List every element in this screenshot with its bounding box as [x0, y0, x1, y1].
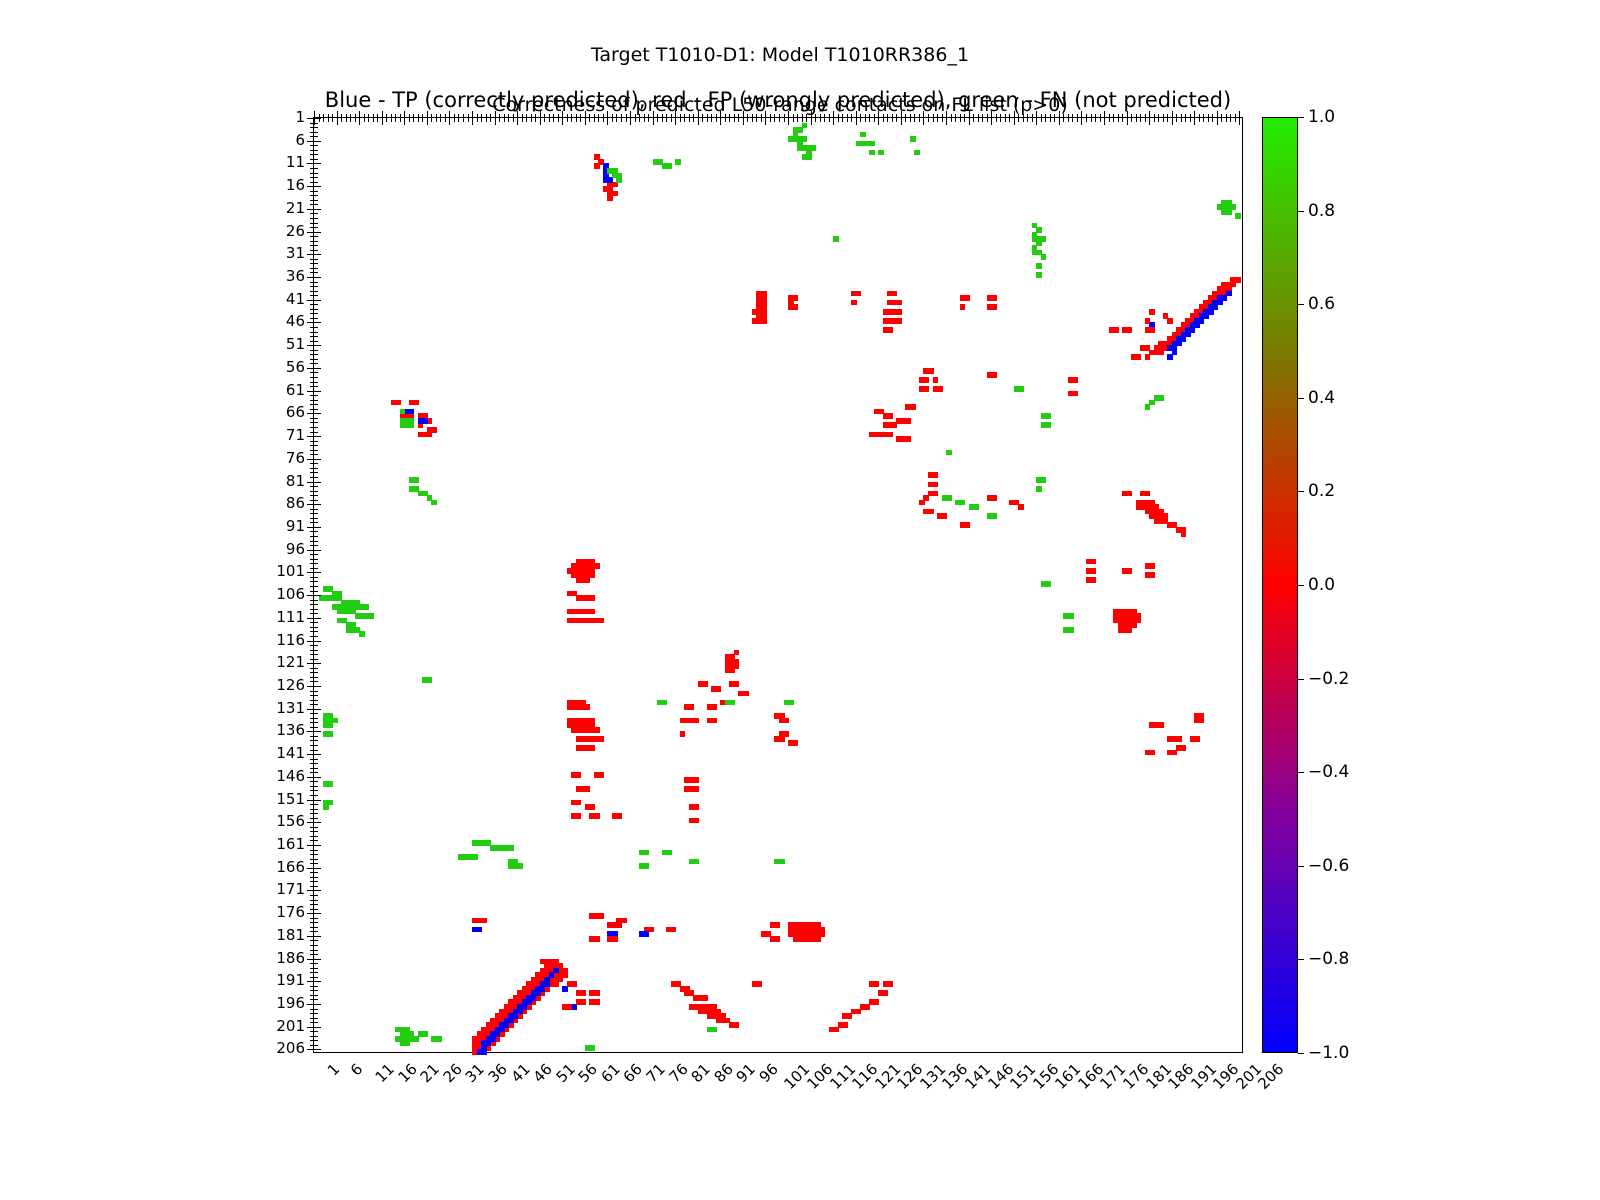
y-axis-tick-label: 66 — [286, 403, 305, 421]
contact-cell — [896, 318, 902, 324]
contact-cell — [887, 413, 893, 419]
x-tick-top — [1014, 118, 1015, 125]
y-tick-right — [310, 154, 314, 155]
x-tick — [382, 111, 383, 118]
x-tick-top — [1081, 118, 1082, 125]
contact-cell — [585, 704, 591, 710]
y-tick-right — [310, 132, 314, 133]
y-tick — [314, 1036, 318, 1037]
contact-cell — [1127, 491, 1133, 497]
x-tick-top — [793, 118, 794, 122]
y-tick — [314, 754, 321, 755]
x-tick-top — [580, 118, 581, 122]
y-tick-right — [310, 954, 314, 955]
x-tick-top — [1208, 118, 1209, 122]
x-tick-top — [1172, 118, 1173, 125]
x-tick-top — [937, 118, 938, 122]
y-tick-right — [310, 922, 314, 923]
x-tick — [607, 111, 608, 118]
y-tick — [314, 286, 318, 287]
y-tick-right — [310, 1018, 314, 1019]
y-tick — [314, 263, 318, 264]
y-tick-right — [310, 1022, 314, 1023]
x-tick-top — [774, 118, 775, 122]
y-tick — [314, 250, 318, 251]
x-tick-top — [504, 118, 505, 122]
contact-cell — [594, 999, 600, 1005]
contact-cell — [946, 495, 952, 501]
y-tick — [314, 591, 318, 592]
y-tick — [314, 332, 318, 333]
x-tick-top — [481, 118, 482, 122]
y-tick-right — [307, 890, 314, 891]
y-tick — [314, 977, 318, 978]
y-tick — [314, 204, 318, 205]
contact-cell — [644, 931, 650, 937]
contact-cell — [553, 968, 559, 974]
colorbar-tick — [1298, 772, 1304, 773]
y-tick — [314, 604, 318, 605]
contact-cell — [427, 432, 433, 438]
contact-cell — [364, 604, 370, 610]
y-tick-right — [310, 363, 314, 364]
y-tick-right — [310, 450, 314, 451]
contact-cell — [842, 1022, 848, 1028]
x-tick-top — [355, 118, 356, 122]
contact-cell — [481, 1049, 487, 1055]
y-tick-right — [310, 645, 314, 646]
contact-cell — [598, 772, 604, 778]
x-tick-top — [314, 118, 315, 125]
x-tick-top — [1068, 118, 1069, 122]
y-tick-right — [310, 613, 314, 614]
y-tick — [314, 173, 318, 174]
x-tick-top — [973, 118, 974, 122]
y-tick-right — [310, 123, 314, 124]
contact-cell — [833, 1027, 839, 1033]
x-tick-top — [463, 118, 464, 122]
x-tick-top — [1027, 118, 1028, 122]
contact-cell — [594, 990, 600, 996]
contact-cell — [580, 999, 586, 1005]
y-tick — [314, 295, 318, 296]
y-tick — [314, 895, 318, 896]
y-tick — [314, 472, 318, 473]
x-tick-top — [639, 118, 640, 122]
contact-cell — [991, 372, 997, 378]
contact-cell — [693, 786, 699, 792]
y-tick — [314, 309, 318, 310]
x-tick-top — [386, 118, 387, 122]
x-tick-top — [987, 118, 988, 122]
x-tick-top — [671, 118, 672, 122]
contact-cell — [1127, 568, 1133, 574]
contact-cell — [1091, 568, 1097, 574]
y-tick-right — [310, 622, 314, 623]
y-axis-tick-label: 71 — [286, 426, 305, 444]
y-tick-right — [310, 940, 314, 941]
x-axis-tick-labels: 1611162126313641465156616671768186919610… — [313, 1060, 1243, 1150]
x-tick — [1014, 111, 1015, 118]
y-tick-right — [310, 631, 314, 632]
y-axis-tick-label: 206 — [276, 1039, 305, 1057]
x-tick-top — [707, 118, 708, 122]
x-tick — [1239, 111, 1240, 118]
x-tick-top — [486, 118, 487, 122]
y-axis-tick-label: 121 — [276, 653, 305, 671]
y-tick-right — [310, 400, 314, 401]
y-tick — [314, 1040, 318, 1041]
contact-cell — [892, 291, 898, 297]
x-tick-top — [323, 118, 324, 122]
contact-cell — [616, 922, 622, 928]
x-tick — [1104, 111, 1105, 118]
x-tick — [359, 111, 360, 118]
x-tick-top — [1059, 118, 1060, 125]
x-tick-top — [797, 118, 798, 122]
y-tick-right — [307, 436, 314, 437]
y-tick-right — [310, 963, 314, 964]
y-tick-right — [307, 731, 314, 732]
y-tick — [314, 968, 318, 969]
y-tick-right — [310, 386, 314, 387]
y-tick — [314, 777, 321, 778]
y-tick-right — [307, 1004, 314, 1005]
x-tick-top — [436, 118, 437, 122]
y-tick-right — [310, 382, 314, 383]
contact-cell — [368, 613, 374, 619]
x-tick-top — [391, 118, 392, 122]
contact-cell — [788, 700, 794, 706]
y-tick — [314, 118, 321, 119]
x-tick-top — [1217, 118, 1218, 125]
y-tick — [314, 827, 318, 828]
x-axis-tick-label: 96 — [755, 1060, 781, 1086]
colorbar-tick — [1298, 398, 1304, 399]
contact-cell — [802, 154, 808, 160]
contact-cell — [594, 936, 600, 942]
x-tick-top — [535, 118, 536, 122]
y-tick — [314, 413, 321, 414]
contact-cell — [598, 736, 604, 742]
x-tick-top — [495, 118, 496, 125]
x-tick-top — [621, 118, 622, 122]
y-tick-right — [310, 972, 314, 973]
y-tick-right — [307, 959, 314, 960]
y-tick-right — [310, 218, 314, 219]
contact-map-axes[interactable] — [313, 117, 1243, 1053]
y-axis-tick-label: 31 — [286, 244, 305, 262]
x-tick-top — [413, 118, 414, 122]
contact-cell — [905, 436, 911, 442]
x-tick-top — [1054, 118, 1055, 122]
x-tick-top — [607, 118, 608, 125]
y-tick-right — [310, 454, 314, 455]
y-tick — [314, 740, 318, 741]
contact-cell — [933, 472, 939, 478]
x-tick-top — [644, 118, 645, 122]
y-tick — [314, 282, 318, 283]
x-tick-top — [1230, 118, 1231, 122]
y-tick-right — [310, 681, 314, 682]
y-axis-tick-label: 21 — [286, 199, 305, 217]
y-tick — [314, 1027, 321, 1028]
y-axis-tick-label: 86 — [286, 494, 305, 512]
y-tick — [314, 759, 318, 760]
x-tick-top — [666, 118, 667, 122]
y-tick — [314, 781, 318, 782]
y-tick — [314, 745, 318, 746]
contact-cell — [928, 509, 934, 515]
contact-cell — [323, 804, 329, 810]
y-axis-tick-label: 126 — [276, 676, 305, 694]
y-axis-tick-label: 6 — [295, 131, 305, 149]
x-tick-top — [377, 118, 378, 122]
y-tick — [314, 513, 318, 514]
contact-cell — [869, 141, 875, 147]
contact-cell — [594, 727, 600, 733]
y-tick-right — [310, 468, 314, 469]
y-tick — [314, 354, 318, 355]
x-tick-top — [472, 118, 473, 125]
x-tick-top — [1113, 118, 1114, 122]
y-tick — [314, 813, 318, 814]
x-tick-top — [544, 118, 545, 122]
contact-cell — [779, 736, 785, 742]
contact-cell — [1068, 627, 1074, 633]
x-tick-top — [598, 118, 599, 122]
y-tick-right — [310, 168, 314, 169]
y-tick — [314, 840, 318, 841]
contact-cell — [896, 309, 902, 315]
contact-cell — [905, 418, 911, 424]
y-tick — [314, 541, 318, 542]
contact-cell — [1145, 354, 1151, 360]
x-tick-top — [1149, 118, 1150, 125]
contact-cell — [1091, 577, 1097, 583]
colorbar-tick-label: 1.0 — [1308, 107, 1335, 127]
x-tick-top — [869, 118, 870, 122]
y-tick-right — [310, 604, 314, 605]
y-tick-right — [310, 445, 314, 446]
contact-cell — [1181, 531, 1187, 537]
y-tick — [314, 136, 318, 137]
y-tick-right — [307, 391, 314, 392]
x-tick-top — [1045, 118, 1046, 122]
y-tick-right — [310, 827, 314, 828]
y-tick — [314, 663, 321, 664]
contact-map-cells — [314, 118, 1242, 1052]
x-tick-top — [657, 118, 658, 122]
y-tick-right — [310, 127, 314, 128]
contact-cell — [422, 418, 428, 424]
contact-cell — [472, 854, 478, 860]
y-tick — [314, 359, 318, 360]
y-tick — [314, 127, 318, 128]
y-tick-right — [310, 422, 314, 423]
y-tick-right — [310, 850, 314, 851]
contact-cell — [598, 618, 604, 624]
y-tick-right — [310, 1040, 314, 1041]
y-tick — [314, 1031, 318, 1032]
x-tick-top — [675, 118, 676, 125]
y-tick — [314, 545, 318, 546]
y-tick — [314, 800, 321, 801]
y-tick-right — [310, 886, 314, 887]
x-tick-top — [729, 118, 730, 122]
x-axis-tick-label: 1 — [324, 1060, 343, 1079]
y-tick — [314, 850, 318, 851]
y-tick — [314, 1022, 318, 1023]
x-tick-top — [1167, 118, 1168, 122]
contact-cell — [1149, 309, 1155, 315]
x-tick-top — [874, 118, 875, 122]
y-tick — [314, 500, 318, 501]
x-tick-top — [1145, 118, 1146, 122]
contact-cell — [865, 1004, 871, 1010]
y-tick — [314, 554, 318, 555]
y-tick — [314, 731, 321, 732]
contact-cell — [1172, 341, 1178, 347]
y-tick — [314, 363, 318, 364]
y-tick — [314, 159, 318, 160]
y-tick-right — [310, 736, 314, 737]
x-tick — [1127, 111, 1128, 118]
y-tick — [314, 300, 321, 301]
y-tick-right — [307, 254, 314, 255]
x-tick-top — [960, 118, 961, 122]
x-tick-top — [765, 118, 766, 125]
y-axis-tick-label: 181 — [276, 926, 305, 944]
y-tick — [314, 491, 318, 492]
y-tick-right — [310, 313, 314, 314]
contact-cell — [585, 577, 591, 583]
x-tick — [1059, 111, 1060, 118]
y-tick — [314, 981, 321, 982]
y-tick-right — [310, 509, 314, 510]
x-tick-top — [431, 118, 432, 122]
y-tick-right — [310, 522, 314, 523]
y-tick — [314, 386, 318, 387]
y-tick — [314, 341, 318, 342]
y-tick — [314, 563, 318, 564]
y-tick-right — [310, 718, 314, 719]
contact-cell — [616, 177, 622, 183]
x-tick-top — [526, 118, 527, 122]
contact-cell — [589, 1045, 595, 1051]
x-tick-top — [422, 118, 423, 122]
y-tick-right — [307, 845, 314, 846]
y-tick-right — [310, 282, 314, 283]
x-tick-top — [1032, 118, 1033, 122]
y-tick-right — [310, 536, 314, 537]
x-tick-top — [468, 118, 469, 122]
x-tick-top — [1203, 118, 1204, 122]
contact-cell — [1113, 327, 1119, 333]
y-tick-right — [310, 745, 314, 746]
y-tick-right — [310, 759, 314, 760]
contact-cell — [851, 300, 857, 306]
x-tick-top — [1109, 118, 1110, 122]
y-tick-right — [310, 477, 314, 478]
x-tick-top — [1163, 118, 1164, 122]
y-tick — [314, 477, 318, 478]
y-tick-right — [310, 463, 314, 464]
contact-cell — [1172, 350, 1178, 356]
x-tick-top — [847, 118, 848, 122]
y-tick-right — [307, 641, 314, 642]
y-tick — [314, 845, 321, 846]
y-axis-tick-label: 141 — [276, 744, 305, 762]
y-tick — [314, 927, 318, 928]
contact-cell — [400, 409, 406, 415]
x-tick — [675, 111, 676, 118]
y-tick-right — [307, 322, 314, 323]
x-tick — [585, 111, 586, 118]
contact-cell — [734, 663, 740, 669]
x-tick-top — [558, 118, 559, 122]
y-tick-right — [310, 740, 314, 741]
contact-cell — [914, 150, 920, 156]
contact-cell — [1145, 318, 1151, 324]
x-tick — [833, 111, 834, 118]
y-tick — [314, 336, 318, 337]
y-tick-right — [307, 163, 314, 164]
x-tick — [427, 111, 428, 118]
y-tick-right — [310, 159, 314, 160]
x-tick-top — [1009, 118, 1010, 122]
colorbar-tick-label: −1.0 — [1308, 1043, 1349, 1063]
y-tick — [314, 954, 318, 955]
y-tick — [314, 1004, 321, 1005]
figure-canvas: Target T1010-D1: Model T1010RR386_1 Corr… — [0, 0, 1600, 1200]
y-tick — [314, 195, 318, 196]
x-tick-top — [346, 118, 347, 122]
y-tick — [314, 404, 318, 405]
y-tick-right — [310, 781, 314, 782]
x-tick-top — [806, 118, 807, 122]
x-tick — [1149, 111, 1150, 118]
y-tick-right — [307, 186, 314, 187]
y-tick — [314, 454, 318, 455]
y-tick-right — [310, 581, 314, 582]
x-tick-top — [878, 118, 879, 125]
x-tick — [1036, 111, 1037, 118]
y-tick-right — [310, 173, 314, 174]
y-tick-right — [310, 531, 314, 532]
x-tick-top — [522, 118, 523, 122]
y-tick-right — [307, 663, 314, 664]
y-tick — [314, 613, 318, 614]
colorbar-tick — [1298, 211, 1304, 212]
y-tick — [314, 999, 318, 1000]
y-tick — [314, 959, 321, 960]
contact-cell — [1127, 327, 1133, 333]
x-tick — [517, 111, 518, 118]
y-axis-tick-label: 166 — [276, 858, 305, 876]
y-tick-right — [310, 354, 314, 355]
y-tick-right — [307, 936, 314, 937]
contact-cell — [662, 700, 668, 706]
x-tick — [969, 111, 970, 118]
y-tick — [314, 986, 318, 987]
contact-cell — [991, 295, 997, 301]
contact-cell — [702, 681, 708, 687]
y-tick-right — [310, 859, 314, 860]
y-tick — [314, 595, 321, 596]
y-tick — [314, 372, 318, 373]
contact-cell — [693, 804, 699, 810]
